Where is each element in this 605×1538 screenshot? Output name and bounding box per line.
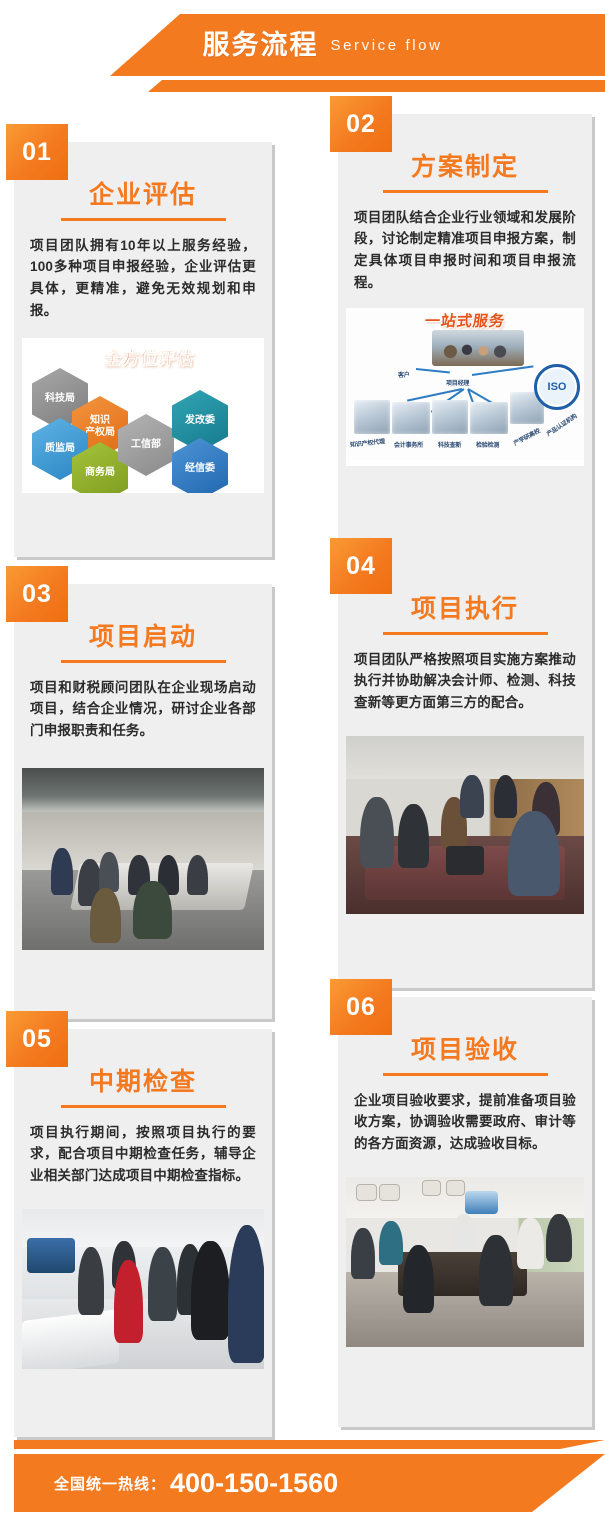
photo-person (517, 1218, 543, 1269)
card-06-title: 项目验收 (411, 1037, 519, 1071)
photo-person (479, 1235, 512, 1306)
photo-meeting-boardroom (22, 768, 264, 950)
header-banner-underline-shape (0, 80, 605, 92)
card-02-number-badge: 02 (330, 96, 392, 152)
card-06-number-badge: 06 (330, 979, 392, 1035)
card-06[interactable]: 06 项目验收 企业项目验收要求，提前准备项目验收方案，协调验收需要政府、审计等… (338, 997, 592, 1427)
card-05[interactable]: 05 中期检查 项目执行期间，按照项目执行的要求，配合项目中期检查任务，辅导企业… (14, 1029, 272, 1437)
hex-diagram-title: 全方位评估 (103, 344, 196, 369)
certification-seal-icon: ISO (534, 364, 580, 410)
page-footer: 全国统一热线： 400-150-1560 (0, 1418, 605, 1538)
photo-meeting-laptops (346, 736, 584, 914)
card-05-number-badge: 05 (6, 1011, 68, 1067)
photo-ceiling (22, 768, 264, 815)
card-03-media (22, 768, 264, 950)
photo-showroom-visit (22, 1209, 264, 1369)
photo-person (508, 811, 560, 896)
card-03-title: 项目启动 (89, 624, 197, 658)
card-04-media (346, 736, 584, 914)
onestop-node-3 (432, 400, 468, 434)
card-02-media: 一站式服务 客户 项目经理 ISO 知识产权代理 (346, 308, 584, 466)
onestop-label-university: 产学研高校 (512, 426, 542, 448)
footer-hotline-group: 全国统一热线： 400-150-1560 (54, 1454, 338, 1512)
card-05-media (22, 1209, 264, 1369)
photo-projector-screen (465, 1191, 498, 1215)
onestop-label-novelty-search: 科技查新 (438, 440, 461, 449)
photo-person (453, 1214, 474, 1251)
photo-certificate-frame (446, 1180, 465, 1196)
card-01-title: 企业评估 (89, 182, 197, 216)
onestop-label-product-cert: 产品认证机构 (544, 411, 578, 438)
photo-person (228, 1225, 264, 1363)
card-05-title: 中期检查 (89, 1069, 197, 1103)
card-04-body: 项目团队严格按照项目实施方案推动执行并协助解决会计师、检测、科技查新等更方面第三… (338, 635, 592, 729)
onestop-label-customer: 客户 (398, 370, 410, 379)
photo-person (187, 855, 209, 895)
photo-person (51, 848, 73, 895)
photo-certificate-frame (356, 1184, 377, 1201)
card-01[interactable]: 01 企业评估 项目团队拥有10年以上服务经验，100多种项目申报经验，企业评估… (14, 142, 272, 557)
card-06-body: 企业项目验收要求，提前准备项目验收方案，协调验收需要政府、审计等的各方面资源，达… (338, 1076, 592, 1170)
photo-person (133, 881, 172, 939)
photo-wall-screen (27, 1238, 75, 1273)
header-title-group: 服务流程 Service flow (0, 14, 605, 76)
service-flow-poster: 服务流程 Service flow 01 企业评估 项目团队拥有10年以上服务经… (0, 0, 605, 1538)
hex-node-jingxin-wei: 经信委 (172, 438, 228, 493)
card-04-number-badge: 04 (330, 538, 392, 594)
card-04[interactable]: 04 项目执行 项目团队严格按照项目实施方案推动执行并协助解决会计师、检测、科技… (338, 556, 592, 988)
photo-certificate-frame (379, 1184, 400, 1201)
card-01-number-badge: 01 (6, 124, 68, 180)
card-01-body: 项目团队拥有10年以上服务经验，100多种项目申报经验，企业评估更具体，更精准，… (14, 221, 272, 336)
photo-person (191, 1241, 230, 1340)
photo-person (90, 888, 121, 943)
photo-ceiling (346, 736, 584, 782)
photo-person (351, 1228, 375, 1279)
page-title: 服务流程 (202, 32, 318, 59)
onestop-label-project-manager: 项目经理 (446, 378, 469, 387)
card-02-title: 方案制定 (411, 154, 519, 188)
onestop-label-inspection: 检验检测 (476, 440, 499, 449)
photo-person (148, 1247, 177, 1321)
card-06-media (346, 1177, 584, 1347)
page-header: 服务流程 Service flow (0, 0, 605, 110)
onestop-arrow-1 (416, 368, 450, 374)
photo-person (379, 1221, 403, 1265)
onestop-center-photo (432, 330, 524, 366)
card-01-media: 全方位评估 科技局 知识产权局 质监局 商务局 工信部 发改委 经信委 (22, 338, 264, 493)
footer-hotline-number[interactable]: 400-150-1560 (170, 1468, 338, 1499)
card-02[interactable]: 02 方案制定 项目团队结合企业行业领域和发展阶段，讨论制定精准项目申报方案，制… (338, 114, 592, 557)
photo-person (78, 1247, 105, 1314)
photo-certificate-frame (422, 1180, 441, 1196)
card-05-body: 项目执行期间，按照项目执行的要求，配合项目中期检查任务，辅导企业相关部门达成项目… (14, 1108, 272, 1202)
photo-person (403, 1245, 434, 1313)
onestop-node-2 (392, 402, 430, 434)
photo-person (494, 775, 518, 818)
footer-accent-stripe (14, 1440, 605, 1449)
footer-hotline-label: 全国统一热线： (54, 1473, 166, 1494)
photo-person (546, 1214, 572, 1262)
card-04-title: 项目执行 (411, 596, 519, 630)
photo-person (460, 775, 484, 818)
photo-person (360, 797, 393, 868)
page-subtitle: Service flow (330, 38, 442, 53)
onestop-title: 一站式服务 (424, 310, 507, 331)
card-02-body: 项目团队结合企业行业领域和发展阶段，讨论制定精准项目申报方案，制定具体项目申报时… (338, 193, 592, 308)
card-03-number-badge: 03 (6, 566, 68, 622)
onestop-service-diagram: 一站式服务 客户 项目经理 ISO 知识产权代理 (346, 308, 584, 460)
photo-laptop (446, 846, 484, 874)
photo-conference-room (346, 1177, 584, 1347)
card-03[interactable]: 03 项目启动 项目和财税顾问团队在企业现场启动项目，结合企业情况，研讨企业各部… (14, 584, 272, 1019)
photo-person (99, 852, 118, 892)
card-03-body: 项目和财税顾问团队在企业现场启动项目，结合企业情况，研讨企业各部门申报职责和任务… (14, 663, 272, 757)
onestop-arrow-6 (472, 365, 534, 376)
photo-person-red-coat (114, 1260, 143, 1343)
onestop-node-4 (470, 402, 508, 434)
onestop-label-ip-agency: 知识产权代理 (350, 436, 386, 449)
onestop-node-1 (354, 400, 390, 434)
onestop-label-accounting: 会计事务所 (394, 440, 423, 449)
hex-assessment-diagram: 全方位评估 科技局 知识产权局 质监局 商务局 工信部 发改委 经信委 (22, 338, 264, 488)
